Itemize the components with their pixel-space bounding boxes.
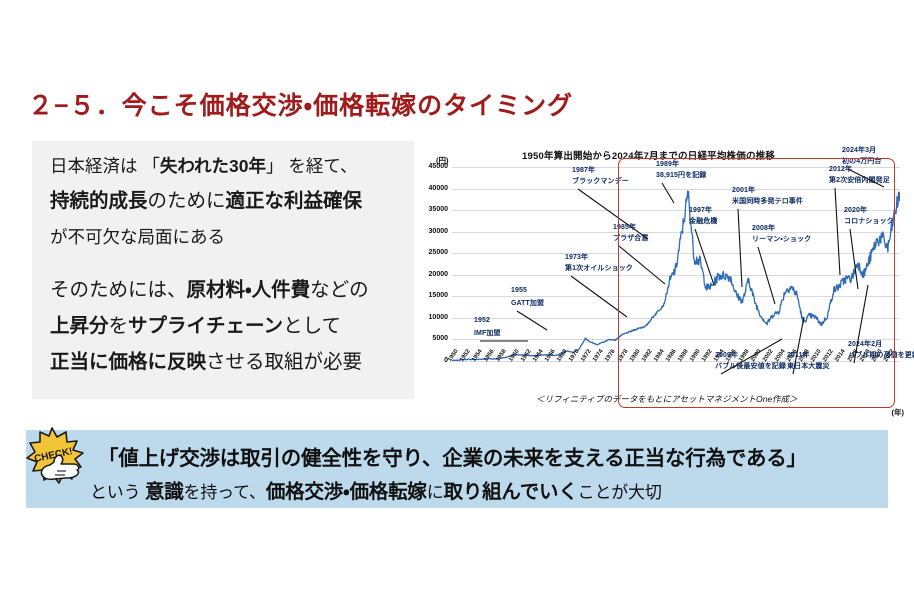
annotation-text: IMF加盟 — [474, 328, 501, 338]
bottom-banner: CHECK! 「値上げ交渉は取引の健全性を守り、企業の未来を支える正当な行為であ… — [26, 430, 888, 508]
text-run: させる取組が必要 — [206, 351, 362, 373]
text-run: 」 を経て、 — [266, 156, 358, 176]
annotation-year: 2024年3月 — [842, 145, 876, 155]
annotation-year: 1955 — [511, 287, 527, 294]
text-run: を — [109, 315, 129, 337]
y-tick-label: 40000 — [414, 185, 448, 192]
text-run: 取り組んでいく — [444, 481, 578, 503]
slide-root: ２−５．今こそ価格交渉・価格転嫁のタイミング 日本経済は 「失われた30年」 を… — [0, 0, 914, 610]
annotation-text: 東日本大震災 — [787, 361, 830, 371]
left-text-panel: 日本経済は 「失われた30年」 を経て、 持続的成長のために適正な利益確保 が不… — [32, 141, 414, 399]
annotation-year: 2008年 — [752, 223, 775, 233]
annotation-year: 2024年2月 — [848, 339, 882, 349]
annotation-year: 1997年 — [689, 205, 712, 215]
x-axis-unit-label: (年) — [892, 407, 905, 418]
y-tick-label: 25000 — [414, 249, 448, 256]
text-run: を持って、 — [184, 483, 266, 502]
text-run: 適正な利益確保 — [226, 190, 363, 212]
text-run: が不可欠な局面にある — [50, 227, 225, 247]
left-text-line-4: そのためには、原材料・人件費などの — [50, 281, 369, 301]
chart-source-note: ＜リフィニティブのデータをもとにアセットマネジメントOne作成＞ — [536, 393, 798, 405]
annotation-text: 初の4万円台 — [842, 156, 882, 166]
text-run: 価格交渉・価格転嫁 — [266, 481, 427, 503]
annotation-text: バブル後最安値を記録 — [715, 361, 786, 371]
text-run: のために — [148, 190, 226, 212]
left-text-line-2: 持続的成長のために適正な利益確保 — [50, 192, 362, 212]
annotation-text: プラザ合意 — [613, 233, 649, 243]
left-text-line-1: 日本経済は 「失われた30年」 を経て、 — [50, 158, 357, 176]
gridline — [452, 361, 900, 362]
check-badge-icon: CHECK! — [22, 426, 96, 488]
annotation-text: リーマン・ショック — [752, 234, 811, 244]
y-tick-label: 20000 — [414, 271, 448, 278]
page-title: ２−５．今こそ価格交渉・価格転嫁のタイミング — [28, 86, 573, 122]
annotation-year: 1973年 — [565, 252, 588, 262]
text-run: そのためには、 — [50, 279, 187, 301]
y-tick-label: 30000 — [414, 228, 448, 235]
text-run: サプライチェーン — [128, 315, 283, 337]
text-run: 上昇分 — [50, 315, 109, 337]
annotation-year: 1985年 — [613, 222, 636, 232]
annotation-year: 2020年 — [844, 205, 867, 215]
y-tick-label: 0 — [414, 357, 448, 364]
text-run: という — [90, 483, 145, 502]
price-line-series — [452, 167, 900, 361]
banner-subline: という 意識を持って、価格交渉・価格転嫁に取り組んでいくことが大切 — [90, 475, 662, 504]
left-text-line-3: が不可欠な局面にある — [50, 229, 225, 247]
annotation-text: 米国同時多発テロ事件 — [732, 196, 803, 206]
banner-headline: 「値上げ交渉は取引の健全性を守り、企業の未来を支える正当な行為である」 — [98, 441, 807, 471]
text-run: として — [283, 315, 341, 337]
text-run: に — [427, 483, 444, 502]
left-text-line-5: 上昇分をサプライチェーンとして — [50, 317, 341, 337]
annotation-text: 38,915円を記録 — [656, 170, 706, 180]
text-run: ことが大切 — [578, 483, 662, 502]
annotation-text: バブル期の高値を更新 — [848, 350, 914, 360]
price-line — [452, 191, 900, 361]
annotation-year: 1987年 — [572, 165, 595, 175]
annotation-year: 2011年 — [787, 350, 810, 360]
annotation-year: 2009年 — [715, 350, 738, 360]
annotation-text: 第2次安倍内閣発足 — [829, 175, 890, 185]
text-run: 失われた30年 — [160, 156, 266, 176]
annotation-year: 1952 — [474, 317, 490, 324]
y-tick-label: 5000 — [414, 335, 448, 342]
text-run: 正当に価格に反映 — [50, 351, 206, 373]
annotation-year: 2001年 — [732, 185, 755, 195]
y-tick-label: 15000 — [414, 292, 448, 299]
left-text-line-6: 正当に価格に反映させる取組が必要 — [50, 353, 362, 373]
annotation-year: 1989年 — [656, 159, 679, 169]
y-tick-label: 10000 — [414, 314, 448, 321]
text-run: 持続的成長 — [50, 190, 148, 212]
y-tick-label: 45000 — [414, 163, 448, 170]
annotation-text: GATT加盟 — [511, 298, 544, 308]
chart-title: 1950年算出開始から2024年7月までの日経平均株価の推移 — [522, 148, 775, 162]
text-run: 意識 — [145, 481, 184, 503]
nikkei-chart: 1950年算出開始から2024年7月までの日経平均株価の推移 (円) (年) 0… — [414, 146, 906, 418]
text-run: 原材料・人件費 — [187, 279, 311, 301]
annotation-text: ブラックマンデー — [572, 176, 629, 186]
text-run: などの — [310, 279, 369, 301]
annotation-text: 金融危機 — [689, 216, 717, 226]
annotation-text: コロナショック — [844, 216, 894, 226]
text-run: 日本経済は 「 — [50, 156, 160, 176]
annotation-text: 第1次オイルショック — [565, 263, 633, 273]
y-tick-label: 35000 — [414, 206, 448, 213]
chart-plot-area — [452, 167, 900, 361]
